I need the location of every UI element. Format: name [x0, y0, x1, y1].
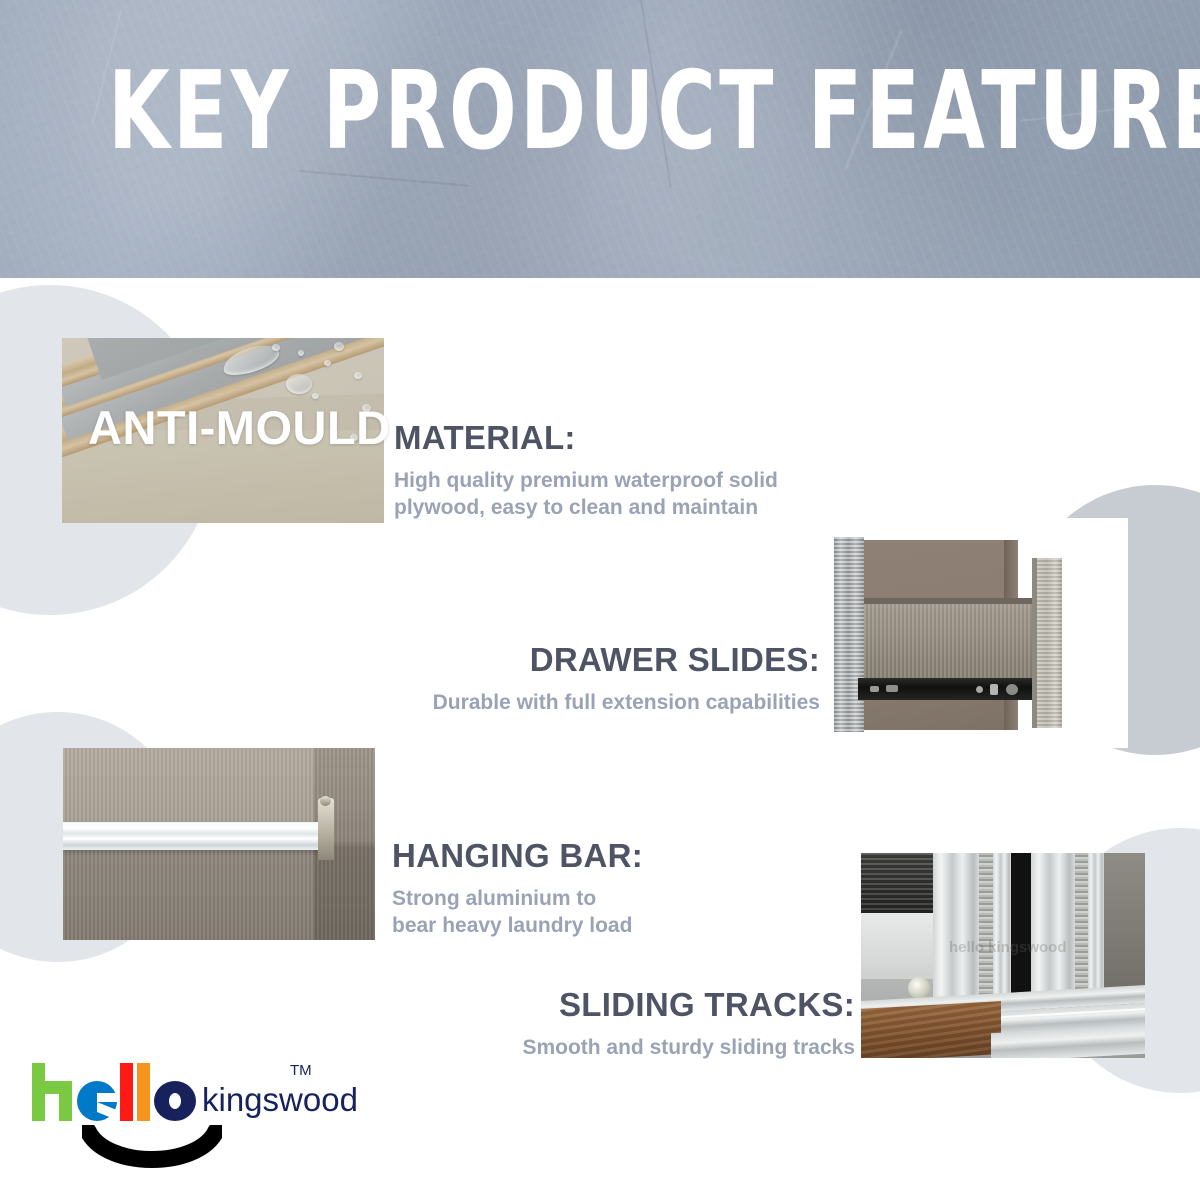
water-droplet-icon — [324, 360, 331, 366]
header-banner: KEY PRODUCT FEATURES — [0, 0, 1200, 278]
feature-sliding-text: SLIDING TRACKS: Smooth and sturdy slidin… — [490, 985, 855, 1061]
photo-watermark: hello kingswood — [949, 939, 1067, 956]
logo-hello-wordmark — [32, 1063, 182, 1121]
feature-material-body-line: High quality premium waterproof solid — [394, 467, 834, 494]
feature-hanging-text: HANGING BAR: Strong aluminium to bear he… — [392, 836, 792, 939]
water-droplet-icon — [298, 350, 304, 356]
feature-drawer-body-line: Durable with full extension capabilities — [380, 689, 820, 716]
water-droplet-icon — [286, 374, 312, 394]
feature-sliding-body-line: Smooth and sturdy sliding tracks — [490, 1034, 855, 1061]
water-droplet-icon — [354, 372, 362, 379]
page-title: KEY PRODUCT FEATURES — [108, 58, 1092, 166]
logo-brand-name: kingswood — [202, 1083, 358, 1116]
brand-logo[interactable]: kingswood TM — [32, 1063, 302, 1168]
water-droplet-icon — [272, 344, 280, 351]
hanging-bar-photo — [63, 748, 375, 940]
logo-smile-icon — [82, 1125, 222, 1171]
drawer-slide-photo — [828, 518, 1128, 748]
feature-material-heading: MATERIAL: — [394, 418, 834, 458]
poster-root: KEY PRODUCT FEATURES — [0, 0, 1200, 1200]
water-droplet-icon — [312, 393, 319, 399]
feature-material-text: MATERIAL: High quality premium waterproo… — [394, 418, 834, 521]
feature-hanging-heading: HANGING BAR: — [392, 836, 792, 876]
feature-hanging-body-line: Strong aluminium to — [392, 885, 792, 912]
water-droplet-icon — [334, 342, 344, 351]
plywood-overlay-label: ANTI-MOULD — [88, 404, 388, 451]
feature-hanging-body-line: bear heavy laundry load — [392, 912, 792, 939]
feature-material-body-line: plywood, easy to clean and maintain — [394, 494, 834, 521]
feature-drawer-text: DRAWER SLIDES: Durable with full extensi… — [380, 640, 820, 716]
feature-sliding-heading: SLIDING TRACKS: — [490, 985, 855, 1025]
logo-trademark: TM — [290, 1063, 312, 1078]
sliding-track-photo: hello kingswood — [861, 853, 1145, 1058]
feature-drawer-heading: DRAWER SLIDES: — [380, 640, 820, 680]
